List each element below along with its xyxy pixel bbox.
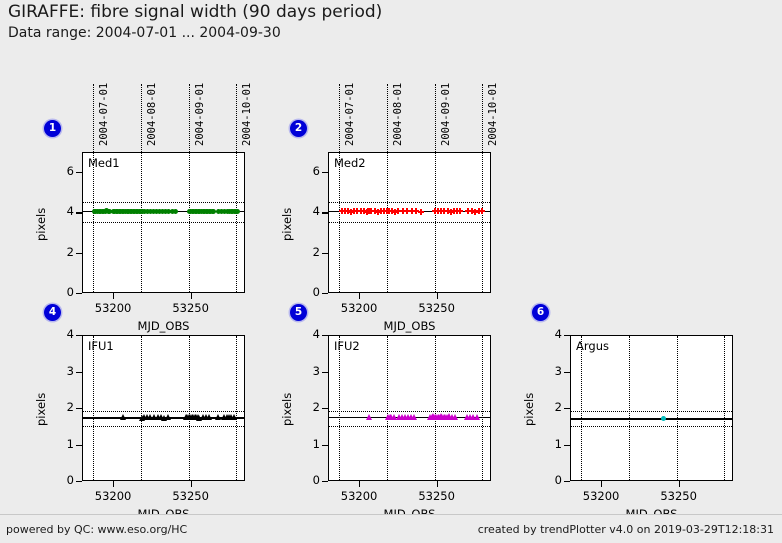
panel-badge-6: 6	[532, 304, 549, 321]
x-tick-label: 53250	[156, 489, 226, 503]
data-point	[173, 209, 178, 214]
y-tick-mark	[322, 372, 328, 373]
y-tick-label: 2	[294, 400, 320, 414]
y-tick-mark	[322, 445, 328, 446]
date-tick-label: 2004-09-01	[440, 83, 452, 146]
page-subtitle: Data range: 2004-07-01 ... 2004-09-30	[8, 25, 281, 41]
x-tick-mark	[191, 293, 192, 299]
y-tick-mark	[76, 293, 82, 294]
plot-gridline-vertical	[724, 336, 725, 480]
y-tick-mark	[76, 372, 82, 373]
panel-badge-2: 2	[290, 120, 307, 137]
data-point	[206, 414, 212, 420]
x-tick-label: 53250	[402, 489, 472, 503]
y-tick-label: 1	[48, 437, 74, 451]
x-axis-label-panel-2: MJD_OBS	[328, 319, 491, 333]
date-gridline	[141, 84, 142, 152]
data-point	[452, 414, 458, 420]
y-tick-label: 4	[536, 327, 562, 341]
y-tick-label: 2	[48, 400, 74, 414]
x-axis-label-panel-1: MJD_OBS	[82, 319, 245, 333]
y-tick-mark	[322, 293, 328, 294]
x-tick-label: 53250	[402, 301, 472, 315]
plot-gridline-vertical	[189, 336, 190, 480]
y-tick-label: 1	[536, 437, 562, 451]
y-tick-label: 0	[48, 473, 74, 487]
x-tick-label: 53250	[644, 489, 714, 503]
data-point	[235, 209, 240, 214]
x-tick-label: 53200	[78, 301, 148, 315]
y-tick-mark	[76, 335, 82, 336]
y-tick-mark	[76, 445, 82, 446]
reference-line-upper	[329, 202, 490, 203]
date-tick-label: 2004-07-01	[98, 83, 110, 146]
date-gridline	[387, 84, 388, 152]
x-tick-mark	[359, 293, 360, 299]
y-tick-mark	[322, 212, 328, 213]
panel-badge-5: 5	[290, 304, 307, 321]
y-tick-label: 4	[48, 204, 74, 218]
x-tick-label: 53200	[324, 489, 394, 503]
date-tick-label: 2004-07-01	[344, 83, 356, 146]
x-tick-mark	[113, 481, 114, 487]
plot-gridline-vertical	[435, 336, 436, 480]
plot-gridline-vertical	[141, 336, 142, 480]
y-tick-mark	[564, 481, 570, 482]
y-tick-mark	[322, 172, 328, 173]
y-tick-mark	[564, 335, 570, 336]
y-tick-label: 4	[48, 327, 74, 341]
date-tick-label: 2004-08-01	[392, 83, 404, 146]
reference-line-lower	[571, 426, 732, 427]
plot-gridline-vertical	[339, 336, 340, 480]
y-tick-label: 3	[48, 364, 74, 378]
data-point	[411, 414, 417, 420]
data-point	[481, 208, 483, 214]
date-gridline	[236, 84, 237, 152]
y-tick-label: 2	[294, 245, 320, 259]
reference-line-upper	[83, 202, 244, 203]
reference-line-lower	[329, 222, 490, 223]
y-tick-mark	[322, 253, 328, 254]
date-tick-label: 2004-10-01	[241, 83, 253, 146]
reference-line-mean	[571, 418, 732, 419]
plot-frame-panel-6	[570, 335, 733, 481]
y-tick-label: 4	[294, 204, 320, 218]
y-tick-label: 4	[294, 327, 320, 341]
y-tick-mark	[322, 408, 328, 409]
x-tick-mark	[437, 481, 438, 487]
y-tick-label: 0	[48, 285, 74, 299]
reference-line-lower	[83, 222, 244, 223]
panel-badge-1: 1	[44, 120, 61, 137]
plot-gridline-vertical	[677, 336, 678, 480]
y-tick-label: 0	[536, 473, 562, 487]
x-tick-label: 53200	[78, 489, 148, 503]
plot-frame-panel-4	[82, 335, 245, 481]
page-title: GIRAFFE: fibre signal width (90 days per…	[8, 2, 382, 22]
y-tick-mark	[76, 481, 82, 482]
plot-title-panel-4: IFU1	[88, 339, 114, 353]
x-tick-label: 53200	[324, 301, 394, 315]
plot-gridline-vertical	[581, 336, 582, 480]
y-axis-label-panel-1: pixels	[34, 207, 48, 240]
y-tick-mark	[322, 481, 328, 482]
y-tick-mark	[322, 335, 328, 336]
date-gridline	[435, 84, 436, 152]
plot-frame-panel-5	[328, 335, 491, 481]
y-tick-label: 0	[294, 285, 320, 299]
footer-credit-left: powered by QC: www.eso.org/HC	[6, 523, 187, 536]
y-tick-label: 3	[536, 364, 562, 378]
data-point	[231, 414, 237, 420]
page-header: GIRAFFE: fibre signal width (90 days per…	[0, 0, 782, 46]
reference-line-upper	[571, 411, 732, 412]
date-gridline	[189, 84, 190, 152]
reference-line-upper	[83, 411, 244, 412]
page-footer: powered by QC: www.eso.org/HC created by…	[0, 514, 782, 543]
data-point	[366, 414, 372, 420]
y-tick-mark	[76, 408, 82, 409]
plot-canvas: 12004-07-012004-08-012004-09-012004-10-0…	[0, 46, 782, 514]
y-axis-label-panel-5: pixels	[280, 393, 294, 426]
y-tick-mark	[76, 212, 82, 213]
plot-title-panel-2: Med2	[334, 156, 366, 170]
panel-badge-4: 4	[44, 304, 61, 321]
data-point	[420, 209, 422, 215]
date-gridline	[339, 84, 340, 152]
data-point	[165, 414, 171, 420]
x-tick-mark	[191, 481, 192, 487]
plot-gridline-vertical	[387, 336, 388, 480]
y-tick-label: 3	[294, 364, 320, 378]
plot-title-panel-6: Argus	[576, 339, 609, 353]
x-tick-mark	[113, 293, 114, 299]
date-tick-label: 2004-10-01	[487, 83, 499, 146]
reference-line-lower	[329, 426, 490, 427]
x-tick-mark	[359, 481, 360, 487]
y-tick-label: 1	[294, 437, 320, 451]
data-point	[120, 414, 126, 420]
x-tick-mark	[437, 293, 438, 299]
plot-gridline-vertical	[93, 336, 94, 480]
plot-gridline-vertical	[629, 336, 630, 480]
x-tick-label: 53250	[156, 301, 226, 315]
date-gridline	[93, 84, 94, 152]
x-tick-label: 53200	[566, 489, 636, 503]
data-point	[474, 414, 480, 420]
y-tick-label: 6	[48, 164, 74, 178]
y-tick-mark	[564, 372, 570, 373]
date-tick-label: 2004-09-01	[194, 83, 206, 146]
y-tick-mark	[76, 253, 82, 254]
y-tick-label: 6	[294, 164, 320, 178]
date-tick-label: 2004-08-01	[146, 83, 158, 146]
y-tick-mark	[76, 172, 82, 173]
footer-credit-right: created by trendPlotter v4.0 on 2019-03-…	[478, 523, 774, 536]
x-tick-mark	[679, 481, 680, 487]
data-point	[459, 208, 461, 214]
reference-line-lower	[83, 426, 244, 427]
x-tick-mark	[601, 481, 602, 487]
plot-title-panel-1: Med1	[88, 156, 120, 170]
plot-title-panel-5: IFU2	[334, 339, 360, 353]
y-axis-label-panel-4: pixels	[34, 393, 48, 426]
y-axis-label-panel-6: pixels	[522, 393, 536, 426]
plot-gridline-vertical	[482, 336, 483, 480]
y-tick-mark	[564, 445, 570, 446]
plot-gridline-vertical	[236, 336, 237, 480]
y-axis-label-panel-2: pixels	[280, 207, 294, 240]
y-tick-label: 2	[48, 245, 74, 259]
y-tick-mark	[564, 408, 570, 409]
y-tick-label: 0	[294, 473, 320, 487]
y-tick-label: 2	[536, 400, 562, 414]
data-point	[215, 414, 221, 420]
date-gridline	[482, 84, 483, 152]
reference-line-upper	[329, 411, 490, 412]
